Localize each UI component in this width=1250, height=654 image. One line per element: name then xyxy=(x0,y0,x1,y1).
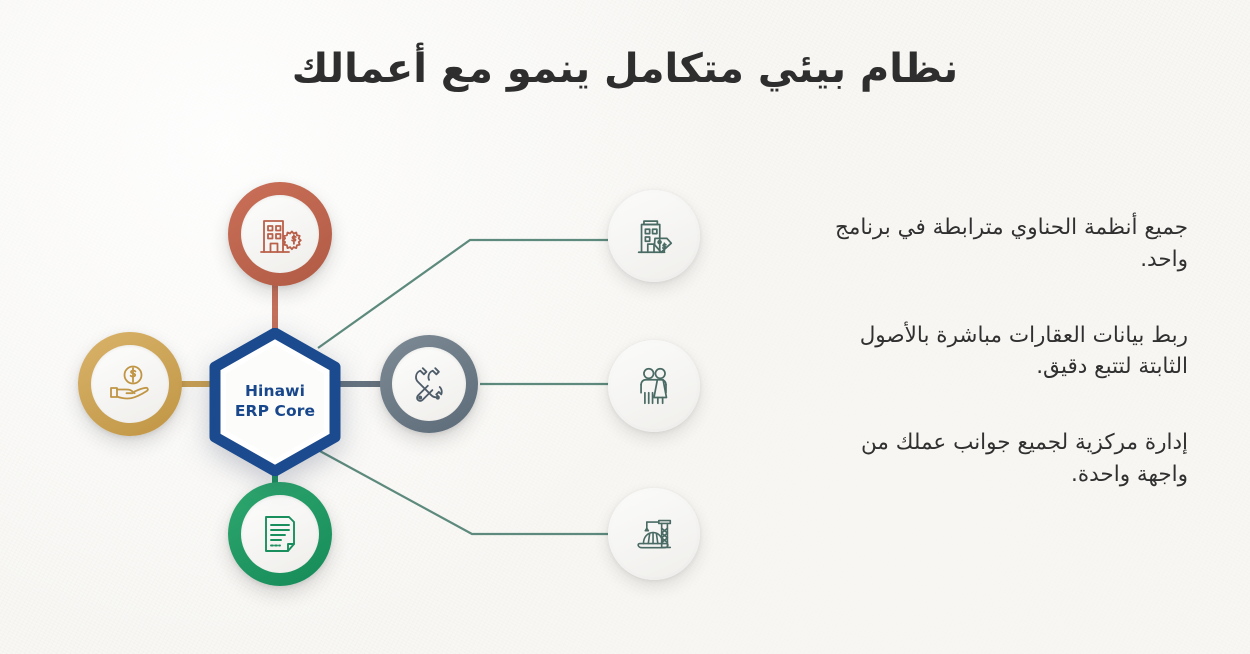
building-price-tag-icon xyxy=(631,213,677,259)
connector-right-bottom xyxy=(318,450,608,534)
feature-item-1: جميع أنظمة الحناوي مترابطة في برنامج واح… xyxy=(808,212,1188,276)
node-construction[interactable] xyxy=(608,488,700,580)
feature-item-3: إدارة مركزية لجميع جوانب عملك من واجهة و… xyxy=(808,427,1188,491)
wrench-screwdriver-icon xyxy=(406,361,452,407)
node-invoicing[interactable] xyxy=(228,482,332,586)
hand-holding-dollar-icon xyxy=(104,358,156,410)
hexagon-shape xyxy=(208,328,342,476)
page-title: نظام بيئي متكامل ينمو مع أعمالك xyxy=(0,44,1250,94)
ecosystem-diagram: Hinawi ERP Core xyxy=(40,150,780,620)
node-tenants[interactable] xyxy=(608,340,700,432)
node-property-leasing[interactable] xyxy=(608,190,700,282)
connector-right-top xyxy=(318,240,608,348)
node-maintenance[interactable] xyxy=(380,335,478,433)
hinawi-erp-core-node[interactable]: Hinawi ERP Core xyxy=(208,328,342,476)
features-list: جميع أنظمة الحناوي مترابطة في برنامج واح… xyxy=(808,212,1188,491)
two-people-icon xyxy=(631,363,677,409)
node-payments[interactable] xyxy=(78,332,182,436)
document-invoice-icon xyxy=(256,510,304,558)
feature-item-2: ربط بيانات العقارات مباشرة بالأصول الثاب… xyxy=(808,320,1188,384)
building-dollar-gear-icon xyxy=(255,209,305,259)
crane-hardhat-icon xyxy=(631,511,677,557)
node-real-estate-finance[interactable] xyxy=(228,182,332,286)
